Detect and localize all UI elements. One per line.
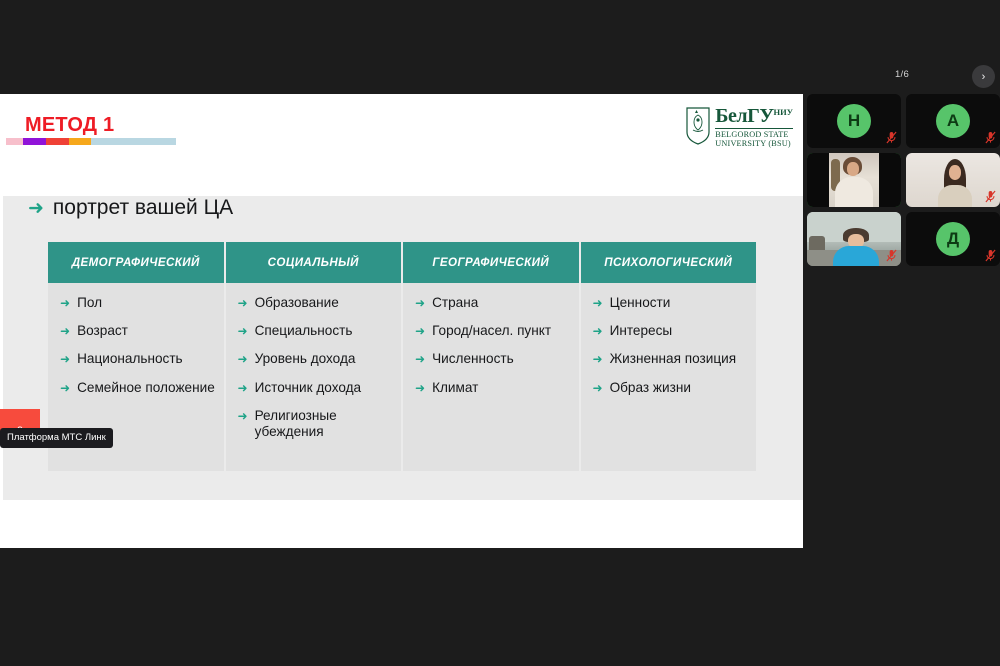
list-item-label: Уровень дохода — [255, 351, 356, 367]
mic-muted-icon — [985, 131, 996, 144]
list-item-label: Образ жизни — [610, 380, 691, 396]
list-item-label: Образование — [255, 295, 339, 311]
accent-segment-0 — [6, 138, 23, 145]
list-item: ➜Религиозные убеждения — [238, 408, 394, 440]
participant-tile[interactable]: Н — [807, 94, 901, 148]
list-item: ➜Образование — [238, 295, 394, 311]
logo-main-label: БелГУ — [715, 105, 773, 127]
list-item-label: Пол — [77, 295, 102, 311]
list-item: ➜Город/насел. пункт — [415, 323, 571, 339]
column-body: ➜Страна➜Город/насел. пункт➜Численность➜К… — [403, 283, 579, 471]
arrow-right-icon: ➜ — [415, 351, 425, 367]
arrow-right-icon: ➜ — [593, 295, 603, 311]
list-item: ➜Семейное положение — [60, 380, 216, 396]
list-item-label: Страна — [432, 295, 478, 311]
meeting-window: МЕТОД 1 БелГУНИУ — [0, 0, 1000, 666]
logo-sub-line2: UNIVERSITY (BSU) — [715, 139, 793, 148]
slide-header: МЕТОД 1 БелГУНИУ — [3, 94, 803, 196]
participant-tile[interactable]: А — [906, 94, 1000, 148]
arrow-right-icon: ➜ — [238, 323, 248, 339]
avatar: Н — [837, 104, 871, 138]
list-item-label: Источник дохода — [255, 380, 362, 396]
accent-segment-1 — [23, 138, 46, 145]
list-item: ➜Специальность — [238, 323, 394, 339]
participant-tile[interactable] — [807, 153, 901, 207]
bsu-logo: БелГУНИУ BELGOROD STATE UNIVERSITY (BSU) — [685, 106, 793, 148]
mic-muted-icon — [886, 249, 897, 262]
list-item: ➜Уровень дохода — [238, 351, 394, 367]
list-item: ➜Возраст — [60, 323, 216, 339]
arrow-right-icon: ➜ — [28, 199, 44, 218]
list-item-label: Семейное положение — [77, 380, 215, 396]
shield-crest-icon — [685, 106, 711, 146]
accent-segment-3 — [69, 138, 91, 145]
list-item: ➜Пол — [60, 295, 216, 311]
logo-main-text: БелГУНИУ — [715, 106, 793, 127]
list-item-label: Жизненная позиция — [610, 351, 737, 367]
page-indicator: 1/6 — [804, 69, 1000, 80]
list-item: ➜Национальность — [60, 351, 216, 367]
column-body: ➜Образование➜Специальность➜Уровень доход… — [226, 283, 402, 471]
accent-segment-4 — [91, 138, 176, 145]
list-item-label: Религиозные убеждения — [255, 408, 393, 440]
mic-muted-icon — [886, 131, 897, 144]
platform-tooltip: Платформа МТС Линк — [0, 428, 113, 448]
arrow-right-icon: ➜ — [60, 351, 70, 367]
list-item: ➜Жизненная позиция — [593, 351, 749, 367]
slide-body: ➜ портрет вашей ЦА ДЕМОГРАФИЧЕСКИЙ➜Пол➜В… — [3, 196, 803, 500]
segmentation-table: ДЕМОГРАФИЧЕСКИЙ➜Пол➜Возраст➜Национальнос… — [48, 242, 756, 471]
arrow-right-icon: ➜ — [593, 323, 603, 339]
arrow-right-icon: ➜ — [60, 380, 70, 396]
next-page-button[interactable]: › — [972, 65, 995, 88]
arrow-right-icon: ➜ — [415, 323, 425, 339]
column-body: ➜Ценности➜Интересы➜Жизненная позиция➜Обр… — [581, 283, 757, 471]
accent-bar — [6, 138, 176, 145]
slide-subheading-label: портрет вашей ЦА — [53, 196, 233, 220]
presentation-slide: МЕТОД 1 БелГУНИУ — [3, 94, 803, 500]
arrow-right-icon: ➜ — [415, 380, 425, 396]
list-item-label: Климат — [432, 380, 478, 396]
shared-screen-stage[interactable]: МЕТОД 1 БелГУНИУ — [0, 94, 803, 548]
arrow-right-icon: ➜ — [238, 380, 248, 396]
list-item-label: Специальность — [255, 323, 353, 339]
slide-title: МЕТОД 1 — [25, 114, 114, 137]
list-item: ➜Климат — [415, 380, 571, 396]
table-column: ГЕОГРАФИЧЕСКИЙ➜Страна➜Город/насел. пункт… — [401, 242, 579, 471]
arrow-right-icon: ➜ — [593, 380, 603, 396]
avatar: А — [936, 104, 970, 138]
list-item-label: Численность — [432, 351, 514, 367]
column-header: ГЕОГРАФИЧЕСКИЙ — [403, 242, 579, 283]
slide-subheading: ➜ портрет вашей ЦА — [28, 196, 233, 220]
arrow-right-icon: ➜ — [238, 408, 248, 424]
participant-tile[interactable]: Д — [906, 212, 1000, 266]
arrow-right-icon: ➜ — [593, 351, 603, 367]
list-item: ➜Интересы — [593, 323, 749, 339]
list-item-label: Ценности — [610, 295, 671, 311]
participant-rail: 1/6 › НАД — [804, 58, 1000, 266]
slide-footer-strip — [3, 500, 803, 548]
arrow-right-icon: ➜ — [238, 295, 248, 311]
table-column: ПСИХОЛОГИЧЕСКИЙ➜Ценности➜Интересы➜Жизнен… — [579, 242, 757, 471]
column-header: ПСИХОЛОГИЧЕСКИЙ — [581, 242, 757, 283]
list-item: ➜Образ жизни — [593, 380, 749, 396]
list-item-label: Город/насел. пункт — [432, 323, 551, 339]
logo-subtitle: BELGOROD STATE UNIVERSITY (BSU) — [715, 128, 793, 148]
arrow-right-icon: ➜ — [60, 323, 70, 339]
list-item: ➜Численность — [415, 351, 571, 367]
list-item: ➜Страна — [415, 295, 571, 311]
list-item: ➜Ценности — [593, 295, 749, 311]
mic-muted-icon — [985, 190, 996, 203]
participant-tile[interactable] — [807, 212, 901, 266]
participant-tiles: НАД — [804, 94, 1000, 266]
arrow-right-icon: ➜ — [60, 295, 70, 311]
arrow-right-icon: ➜ — [415, 295, 425, 311]
list-item-label: Интересы — [610, 323, 673, 339]
rail-toolbar: 1/6 › — [804, 58, 1000, 94]
list-item-label: Национальность — [77, 351, 183, 367]
avatar: Д — [936, 222, 970, 256]
logo-sub-line1: BELGOROD STATE — [715, 130, 793, 139]
column-header: СОЦИАЛЬНЫЙ — [226, 242, 402, 283]
column-header: ДЕМОГРАФИЧЕСКИЙ — [48, 242, 224, 283]
logo-sup-label: НИУ — [774, 107, 793, 117]
list-item: ➜Источник дохода — [238, 380, 394, 396]
participant-video — [807, 153, 901, 207]
list-item-label: Возраст — [77, 323, 128, 339]
participant-tile[interactable] — [906, 153, 1000, 207]
mic-muted-icon — [985, 249, 996, 262]
accent-segment-2 — [46, 138, 69, 145]
arrow-right-icon: ➜ — [238, 351, 248, 367]
logo-wordmark: БелГУНИУ BELGOROD STATE UNIVERSITY (BSU) — [715, 106, 793, 148]
table-column: СОЦИАЛЬНЫЙ➜Образование➜Специальность➜Уро… — [224, 242, 402, 471]
